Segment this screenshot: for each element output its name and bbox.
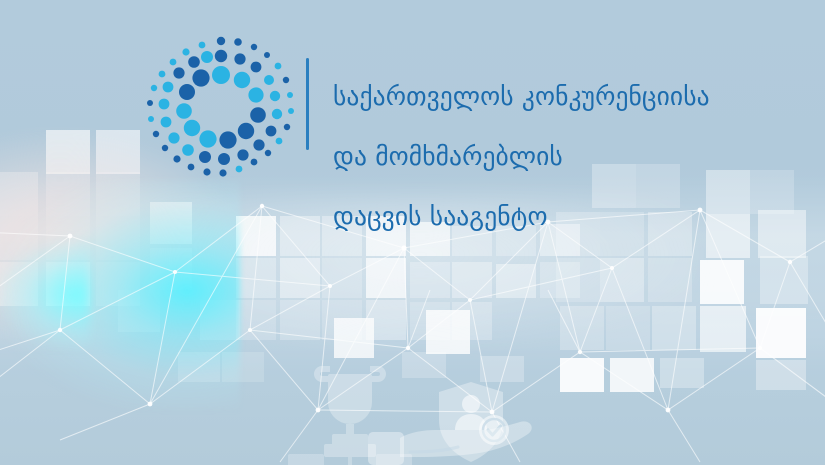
trophy-with-star-icon xyxy=(314,366,386,457)
organization-line-1: საქართველოს კონკურენციისა xyxy=(333,82,710,112)
cyan-glow-right xyxy=(0,180,240,410)
tournament-bracket-icon xyxy=(306,457,394,465)
open-hand-icon xyxy=(368,421,532,465)
organization-line-2: და მომხმარებლის xyxy=(333,142,710,172)
cyan-glow-right-core xyxy=(0,240,90,350)
brand-divider xyxy=(306,58,309,150)
brand-block: საქართველოს კონკურენციისა და მომხმარებლი… xyxy=(306,52,776,164)
bracket-boxes-icon xyxy=(288,454,412,465)
organization-line-3: დაცვის სააგენტო xyxy=(333,202,710,232)
dotted-ring-logo xyxy=(146,33,296,181)
organization-name: საქართველოს კონკურენციისა და მომხმარებლი… xyxy=(333,52,710,262)
shield-person-check-icon xyxy=(439,382,509,462)
banner-canvas: საქართველოს კონკურენციისა და მომხმარებლი… xyxy=(0,0,825,465)
